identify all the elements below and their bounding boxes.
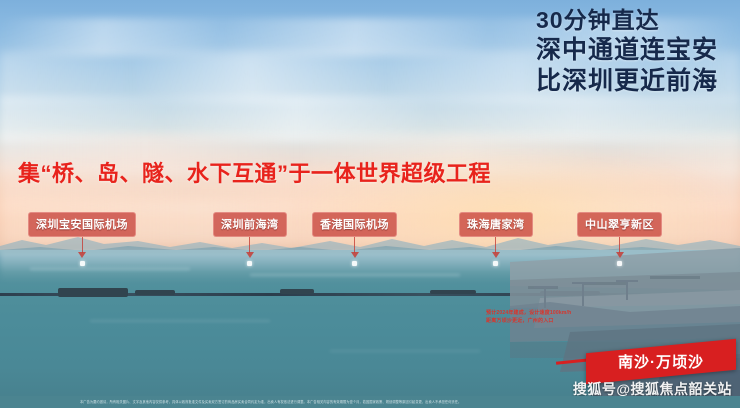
- map-label-marker-dot: [247, 261, 252, 266]
- bridge-structure: [430, 290, 476, 294]
- map-label-marker-dot: [352, 261, 357, 266]
- port-crane: [534, 286, 556, 288]
- map-label-text: 珠海唐家湾: [459, 212, 533, 237]
- map-label-stem: [495, 237, 496, 253]
- bridge-structure: [135, 290, 175, 295]
- map-label-marker-dot: [80, 261, 85, 266]
- map-label-marker-dot: [617, 261, 622, 266]
- map-label-marker-dot: [493, 261, 498, 266]
- map-label-stem: [619, 237, 620, 253]
- headline-line-2: 深中通道连宝安: [536, 35, 718, 66]
- red-slogan: 集“桥、岛、隧、水下互通”于一体世界超级工程: [18, 156, 491, 188]
- map-label-pointer-icon: [78, 252, 86, 258]
- bridge-structure: [58, 288, 128, 297]
- map-label-text: 深圳前海湾: [213, 212, 287, 237]
- nansha-banner-label: 南沙·万顷沙: [618, 351, 704, 372]
- sea-streak: [250, 274, 460, 276]
- map-label-pointer-icon: [492, 252, 500, 258]
- bridge-structure: [280, 289, 314, 294]
- promo-image: 30分钟直达 深中通道连宝安 比深圳更近前海 集“桥、岛、隧、水下互通”于一体世…: [0, 0, 740, 408]
- map-label-pointer-icon: [351, 252, 359, 258]
- port-crane: [572, 282, 596, 284]
- headline-line-1: 30分钟直达: [536, 6, 718, 35]
- map-label-text: 中山翠亨新区: [577, 212, 662, 237]
- sea-streak: [30, 268, 190, 270]
- port-crane: [544, 286, 546, 308]
- map-label-stem: [354, 237, 355, 253]
- port-crane: [582, 282, 584, 306]
- port-crane: [626, 280, 628, 300]
- legal-disclaimer: 本广告为要约邀请，所有相关图片、文字及其他内容仅供参考，具体以政府批准文件及买卖…: [0, 396, 740, 408]
- map-label-shenzhen-baoan-airport[interactable]: 深圳宝安国际机场: [28, 212, 136, 266]
- map-label-zhongshan-cuiheng-new-district[interactable]: 中山翠亨新区: [577, 212, 662, 266]
- sea-streak: [90, 320, 270, 322]
- map-label-pointer-icon: [246, 252, 254, 258]
- map-label-text: 香港国际机场: [312, 212, 397, 237]
- map-label-stem: [82, 237, 83, 253]
- map-label-stem: [249, 237, 250, 253]
- map-label-zhuhai-tangjiawan[interactable]: 珠海唐家湾: [459, 212, 533, 266]
- headline-line-3: 比深圳更近前海: [536, 66, 718, 97]
- map-label-shenzhen-qianhai-bay[interactable]: 深圳前海湾: [213, 212, 287, 266]
- map-label-hongkong-airport[interactable]: 香港国际机场: [312, 212, 397, 266]
- map-label-text: 深圳宝安国际机场: [28, 212, 136, 237]
- headline-block: 30分钟直达 深中通道连宝安 比深圳更近前海: [536, 6, 718, 97]
- bridge-annotation-line-2: 距离万顷沙更近，广州的入口: [486, 318, 571, 326]
- port-crane: [616, 280, 638, 282]
- sea-streak: [330, 350, 480, 352]
- map-label-pointer-icon: [616, 252, 624, 258]
- bridge-annotation-line-1: 预计2024年建成，设计速度100km/h: [486, 310, 571, 318]
- bridge-annotation: 预计2024年建成，设计速度100km/h 距离万顷沙更近，广州的入口: [486, 310, 571, 325]
